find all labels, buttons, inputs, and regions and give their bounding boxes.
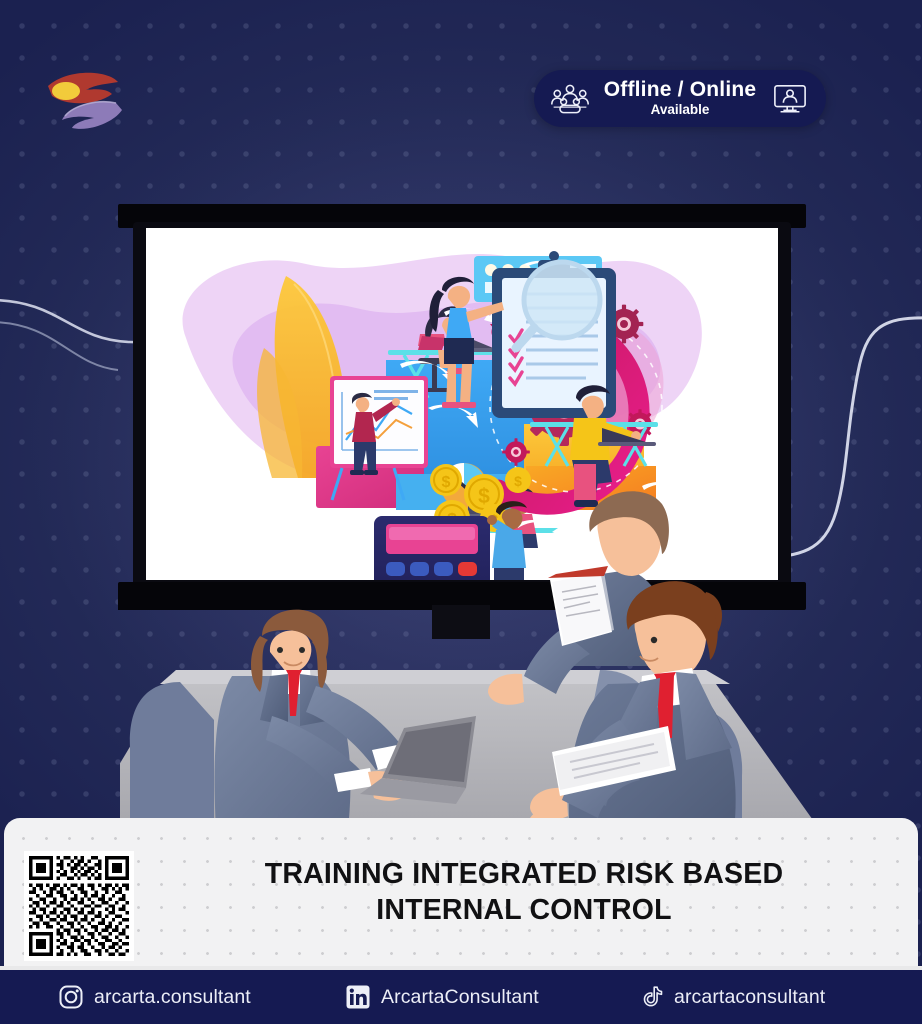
social-link-tiktok[interactable]: arcartaconsultant [638, 984, 825, 1010]
availability-badge[interactable]: Offline / Online Available [534, 70, 826, 127]
qr-code[interactable] [24, 851, 134, 961]
poster-root: Offline / Online Available [0, 0, 922, 1024]
page-title: TRAINING INTEGRATED RISK BASED INTERNAL … [154, 856, 894, 928]
meeting-group-icon [550, 82, 590, 116]
linkedin-icon [345, 984, 371, 1010]
title-line-2: INTERNAL CONTROL [154, 892, 894, 928]
audience-group [120, 470, 820, 830]
title-line-1: TRAINING INTEGRATED RISK BASED [154, 856, 894, 892]
arcarta-logo[interactable] [38, 58, 128, 132]
social-link-instagram[interactable]: arcarta.consultant [58, 984, 251, 1010]
instagram-handle: arcarta.consultant [94, 986, 251, 1009]
badge-text-block: Offline / Online Available [604, 79, 757, 117]
linkedin-handle: ArcartaConsultant [381, 986, 539, 1009]
badge-line-2: Available [604, 103, 757, 117]
clipboard-checklist [492, 251, 616, 418]
social-link-linkedin[interactable]: ArcartaConsultant [345, 984, 539, 1010]
social-footer: arcarta.consultant ArcartaConsultant arc… [0, 970, 922, 1024]
online-monitor-person-icon [770, 82, 810, 116]
instagram-icon [58, 984, 84, 1010]
title-card: TRAINING INTEGRATED RISK BASED INTERNAL … [4, 818, 918, 970]
tiktok-icon [638, 984, 664, 1010]
tiktok-handle: arcartaconsultant [674, 986, 825, 1009]
badge-line-1: Offline / Online [604, 79, 757, 101]
